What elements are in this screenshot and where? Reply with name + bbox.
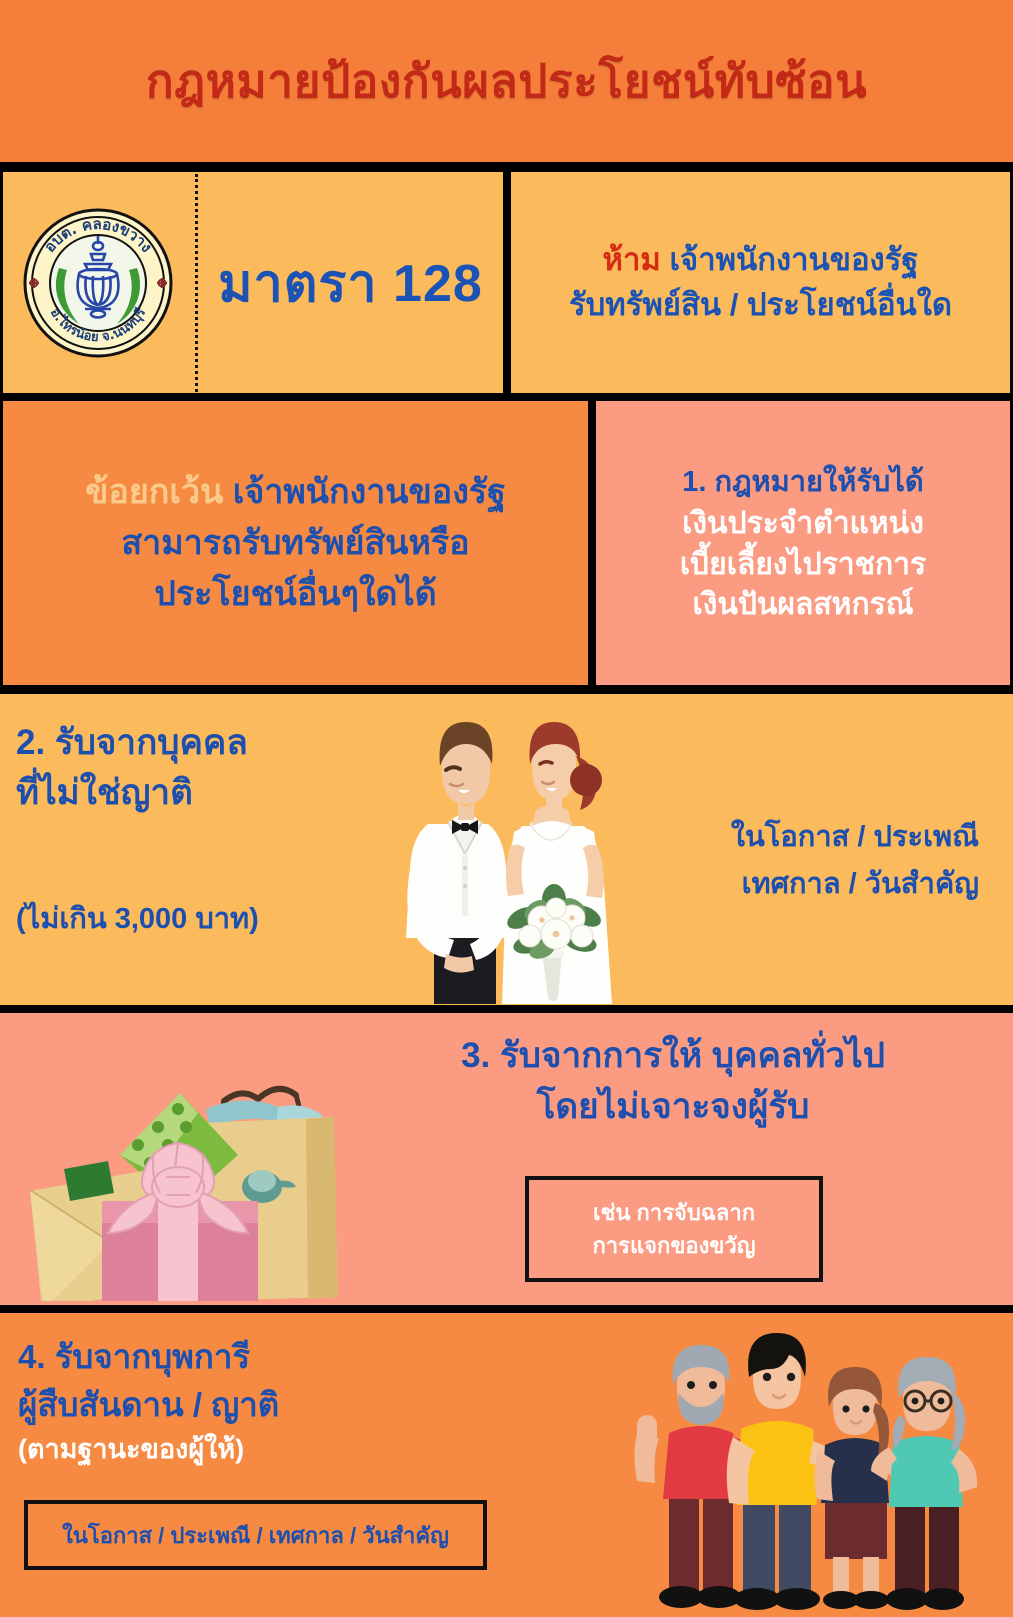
item-1-line-2: เบี้ยเลี้ยงไปราชการ xyxy=(680,545,926,585)
item-3-text: 3. รับจากการให้ บุคคลทั่วไป โดยไม่เจาะจง… xyxy=(355,1031,991,1133)
exception-panel: ข้อยกเว้น เจ้าพนักงานของรัฐ สามารถรับทรั… xyxy=(3,401,588,685)
item-3-example-line-1: เช่น การจับฉลาก xyxy=(593,1196,755,1229)
section-number-label: มาตรา 128 xyxy=(198,241,503,324)
prohibition-keyword: ห้าม xyxy=(603,242,661,277)
page-title: กฎหมายป้องกันผลประโยชน์ทับซ้อน xyxy=(146,56,867,107)
exception-line-2: สามารถรับทรัพย์สินหรือ xyxy=(121,518,469,569)
item-4-panel: 4. รับจากบุพการี ผู้สืบสันดาน / ญาติ (ตา… xyxy=(0,1313,1013,1617)
item-4-occasion-line: ในโอกาส / ประเพณี / เทศกาล / วันสำคัญ xyxy=(62,1518,449,1553)
section-panel: อบต. คลองขวาง อ.ไทรน้อย จ.นนทบุรี มาตรา … xyxy=(3,172,503,393)
gifts-illustration xyxy=(10,1023,355,1301)
groom-figure xyxy=(406,722,510,1004)
item-4-heading-line-1: 4. รับจากบุพการี xyxy=(18,1333,538,1381)
item-3-heading-line-2: โดยไม่เจาะจงผู้รับ xyxy=(355,1082,991,1133)
item-4-heading-line-2: ผู้สืบสันดาน / ญาติ xyxy=(18,1381,538,1429)
wedding-couple-illustration xyxy=(390,704,650,1004)
organization-logo-icon: อบต. คลองขวาง อ.ไทรน้อย จ.นนทบุรี xyxy=(23,208,173,358)
item-2-amount-note: (ไม่เกิน 3,000 บาท) xyxy=(16,895,386,941)
exception-line-1-rest: เจ้าพนักงานของรัฐ xyxy=(233,473,506,511)
item-2-occasion-line-1: ในโอกาส / ประเพณี xyxy=(731,814,979,861)
item-4-text: 4. รับจากบุพการี ผู้สืบสันดาน / ญาติ (ตา… xyxy=(18,1333,538,1470)
item-1-heading: 1. กฎหมายให้รับได้ xyxy=(682,461,923,505)
exception-line-1: ข้อยกเว้น เจ้าพนักงานของรัฐ xyxy=(85,467,506,518)
prohibition-line-1: ห้าม เจ้าพนักงานของรัฐ xyxy=(603,238,919,283)
bride-figure xyxy=(502,722,612,1004)
item-2-occasion-line-2: เทศกาล / วันสำคัญ xyxy=(731,861,979,908)
item-1-line-1: เงินประจำตำแหน่ง xyxy=(682,504,924,544)
item-2-text-left: 2. รับจากบุคคล ที่ไม่ใช่ญาติ (ไม่เกิน 3,… xyxy=(16,718,386,941)
prohibition-line-1-rest: เจ้าพนักงานของรัฐ xyxy=(669,242,918,277)
item-2-text-right: ในโอกาส / ประเพณี เทศกาล / วันสำคัญ xyxy=(731,814,979,908)
poster-header: กฎหมายป้องกันผลประโยชน์ทับซ้อน xyxy=(0,0,1013,162)
prohibition-panel: ห้าม เจ้าพนักงานของรัฐ รับทรัพย์สิน / ปร… xyxy=(511,172,1010,393)
item-2-heading-line-2: ที่ไม่ใช่ญาติ xyxy=(16,768,386,818)
exception-keyword: ข้อยกเว้น xyxy=(85,473,223,511)
item-4-subnote: (ตามฐานะของผู้ให้) xyxy=(18,1429,538,1470)
family-illustration xyxy=(615,1319,1013,1617)
item-3-example-box: เช่น การจับฉลาก การแจกของขวัญ xyxy=(525,1176,823,1282)
infographic-poster: กฎหมายป้องกันผลประโยชน์ทับซ้อน xyxy=(0,0,1013,1617)
item-3-heading-line-1: 3. รับจากการให้ บุคคลทั่วไป xyxy=(355,1031,991,1082)
item-3-panel: 3. รับจากการให้ บุคคลทั่วไป โดยไม่เจาะจง… xyxy=(0,1013,1013,1305)
item-4-occasion-box: ในโอกาส / ประเพณี / เทศกาล / วันสำคัญ xyxy=(24,1500,487,1570)
exception-line-3: ประโยชน์อื่นๆใดได้ xyxy=(154,569,436,620)
item-1-panel: 1. กฎหมายให้รับได้ เงินประจำตำแหน่ง เบี้… xyxy=(596,401,1010,685)
item-2-heading-line-1: 2. รับจากบุคคล xyxy=(16,718,386,768)
item-1-line-3: เงินปันผลสหกรณ์ xyxy=(692,585,913,625)
prohibition-line-2: รับทรัพย์สิน / ประโยชน์อื่นใด xyxy=(569,283,952,328)
logo-container: อบต. คลองขวาง อ.ไทรน้อย จ.นนทบุรี xyxy=(3,208,193,358)
item-3-example-line-2: การแจกของขวัญ xyxy=(592,1229,755,1262)
item-2-panel: 2. รับจากบุคคล ที่ไม่ใช่ญาติ (ไม่เกิน 3,… xyxy=(0,694,1013,1005)
